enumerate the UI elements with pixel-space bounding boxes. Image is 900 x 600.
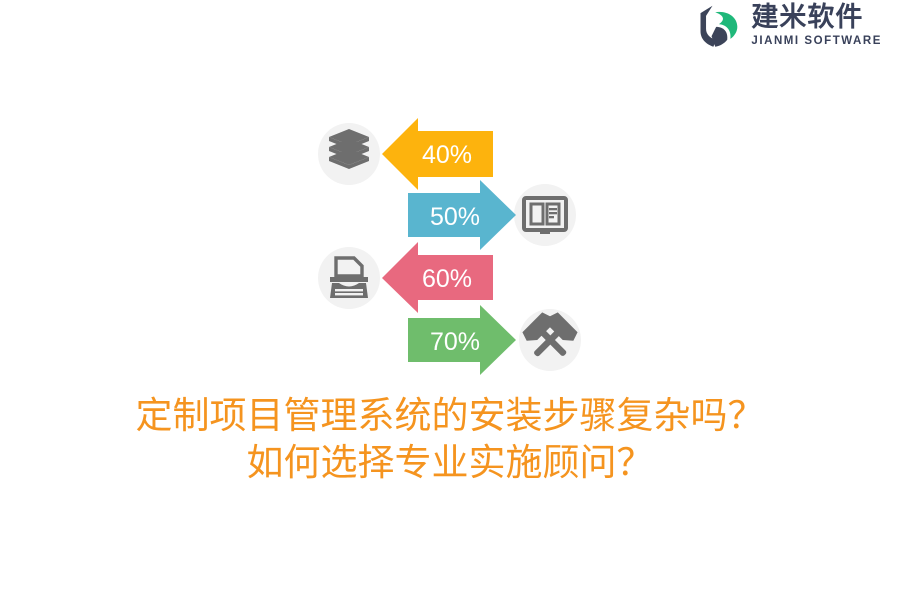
headline-line-1: 定制项目管理系统的安装步骤复杂吗？ bbox=[0, 392, 900, 439]
brand-text: 建米软件 JIANMI SOFTWARE bbox=[751, 4, 882, 48]
page-headline: 定制项目管理系统的安装步骤复杂吗？ 如何选择专业实施顾问？ bbox=[0, 392, 900, 486]
headline-line-2: 如何选择专业实施顾问？ bbox=[0, 439, 900, 486]
infographic-row-2: 50% bbox=[408, 180, 576, 250]
infographic-row-4: 70% bbox=[408, 305, 581, 375]
brand-name-cn: 建米软件 bbox=[751, 4, 882, 31]
percent-label-50: 50% bbox=[430, 203, 480, 231]
infographic-row-1: 40% bbox=[318, 118, 493, 190]
infographic-canvas: 40% 50% 60% 70% bbox=[310, 110, 600, 375]
jianmi-hexagon-leaf-logo-icon bbox=[695, 3, 741, 49]
percent-label-70: 70% bbox=[430, 328, 480, 356]
infographic-row-3: 60% bbox=[318, 242, 493, 313]
brand-name-en: JIANMI SOFTWARE bbox=[751, 36, 882, 48]
arrow-percentage-infographic: 40% 50% 60% 70% bbox=[310, 110, 600, 375]
brand-logo-block: 建米软件 JIANMI SOFTWARE bbox=[695, 0, 882, 52]
stacked-books-icon bbox=[329, 129, 369, 169]
percent-label-60: 60% bbox=[422, 265, 472, 293]
percent-label-40: 40% bbox=[422, 141, 472, 169]
